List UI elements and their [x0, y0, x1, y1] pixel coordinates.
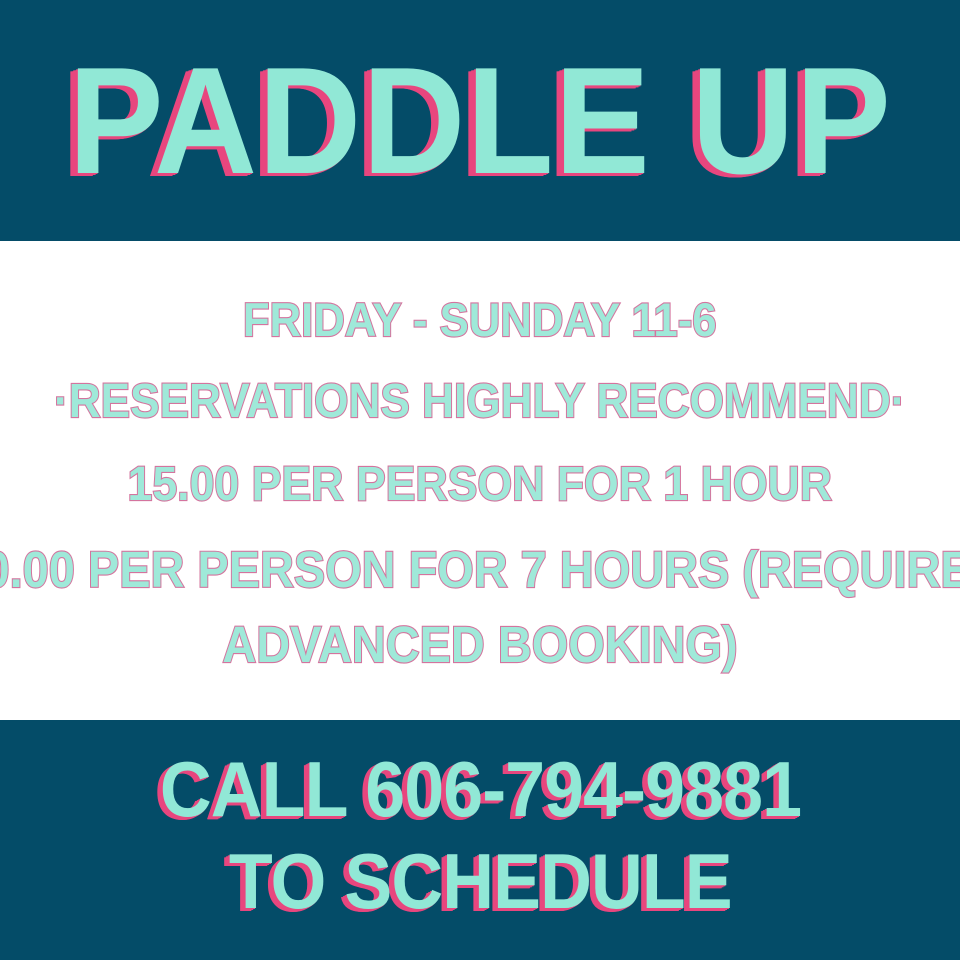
- schedule-line: TO SCHEDULE: [229, 842, 732, 920]
- hours-line: FRIDAY - SUNDAY 11-6: [243, 296, 717, 343]
- header-title-container: PADDLE UP: [0, 0, 960, 241]
- reservations-line: ·RESERVATIONS HIGHLY RECOMMEND·: [54, 378, 905, 426]
- details-container: FRIDAY - SUNDAY 11-6 ·RESERVATIONS HIGHL…: [0, 241, 960, 720]
- flyer-poster: PADDLE UP FRIDAY - SUNDAY 11-6 ·RESERVAT…: [0, 0, 960, 960]
- price-daily-line-part1: 50.00 PER PERSON FOR 7 HOURS (REQUIRES: [0, 544, 960, 595]
- phone-call-line[interactable]: CALL 606-794-9881: [159, 750, 800, 828]
- price-hourly-line: 15.00 PER PERSON FOR 1 HOUR: [128, 461, 833, 509]
- call-to-action-container: CALL 606-794-9881 TO SCHEDULE: [0, 720, 960, 960]
- page-title: PADDLE UP: [68, 45, 891, 197]
- price-daily-line-part2: ADVANCED BOOKING): [222, 619, 737, 670]
